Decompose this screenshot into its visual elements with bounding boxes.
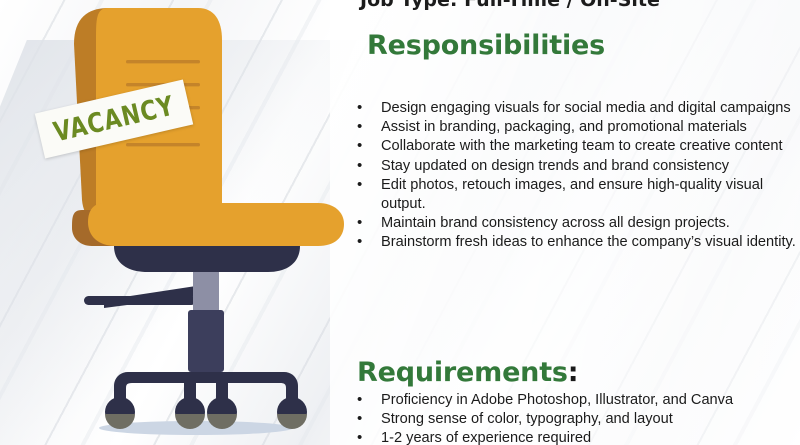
requirements-heading-text: Requirements xyxy=(357,357,568,388)
list-item: Edit photos, retouch images, and ensure … xyxy=(345,176,797,214)
list-item: 1-2 years of experience required xyxy=(345,429,797,445)
list-item: Collaborate with the marketing team to c… xyxy=(345,137,797,156)
gas-cylinder-lower xyxy=(188,310,224,372)
chair-seat xyxy=(88,203,344,246)
gas-cylinder-upper xyxy=(193,272,219,316)
office-chair-illustration xyxy=(0,0,345,445)
list-item: Strong sense of color, typography, and l… xyxy=(345,410,797,429)
list-item: Assist in branding, packaging, and promo… xyxy=(345,118,797,137)
responsibilities-heading: Responsibilities xyxy=(367,30,605,61)
seat-base-plate xyxy=(114,246,300,272)
backrest-stitch-4 xyxy=(126,143,200,146)
requirements-heading-colon: : xyxy=(568,357,579,388)
chair-base-spokes xyxy=(114,372,298,410)
list-item: Design engaging visuals for social media… xyxy=(345,99,797,118)
tilt-lever-bar xyxy=(84,296,196,305)
list-item: Maintain brand consistency across all de… xyxy=(345,214,797,233)
list-item: Brainstorm fresh ideas to enhance the co… xyxy=(345,233,797,252)
requirements-heading: Requirements: xyxy=(357,357,578,388)
job-vacancy-poster: VACANCY Job Type: Full-Time / On-Site Re… xyxy=(0,0,800,445)
backrest-stitch-1 xyxy=(126,60,200,63)
list-item: Proficiency in Adobe Photoshop, Illustra… xyxy=(345,391,797,410)
job-type-line: Job Type: Full-Time / On-Site xyxy=(360,0,660,11)
job-details-column: Job Type: Full-Time / On-Site Responsibi… xyxy=(345,0,800,445)
responsibilities-list: Design engaging visuals for social media… xyxy=(345,99,797,253)
requirements-list: Proficiency in Adobe Photoshop, Illustra… xyxy=(345,391,797,445)
list-item: Stay updated on design trends and brand … xyxy=(345,157,797,176)
